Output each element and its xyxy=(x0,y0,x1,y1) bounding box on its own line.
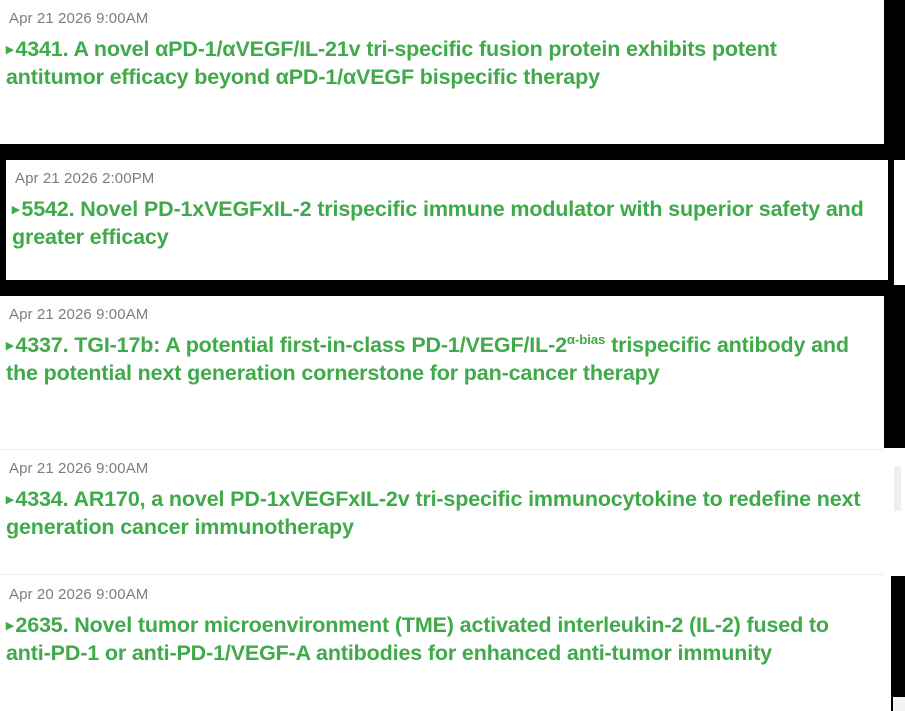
occlusion-band xyxy=(0,285,905,296)
item-date: Apr 21 2026 2:00PM xyxy=(15,170,876,187)
item-title-text: 4341. A novel αPD-1/αVEGF/IL-21v tri-spe… xyxy=(6,37,777,89)
triangle-right-icon: ▸ xyxy=(6,337,13,354)
list-item[interactable]: Apr 21 2026 9:00AM ▸4341. A novel αPD-1/… xyxy=(0,0,884,144)
item-title[interactable]: ▸4341. A novel αPD-1/αVEGF/IL-21v tri-sp… xyxy=(6,36,872,91)
item-title[interactable]: ▸2635. Novel tumor microenvironment (TME… xyxy=(6,612,879,667)
item-title[interactable]: ▸4337. TGI-17b: A potential first-in-cla… xyxy=(6,332,872,387)
list-separator xyxy=(0,574,884,575)
occlusion-bar-right xyxy=(891,576,905,711)
triangle-right-icon: ▸ xyxy=(12,201,19,218)
triangle-right-icon: ▸ xyxy=(6,41,13,58)
triangle-right-icon: ▸ xyxy=(6,617,13,634)
list-item-selected[interactable]: Apr 21 2026 2:00PM ▸5542. Novel PD-1xVEG… xyxy=(0,154,894,286)
list-separator xyxy=(0,449,884,450)
item-date: Apr 21 2026 9:00AM xyxy=(9,460,893,477)
occlusion-bar-right xyxy=(884,296,905,448)
scrollbar-thumb[interactable] xyxy=(894,466,901,511)
occlusion-band xyxy=(0,144,905,160)
item-title-text: 2635. Novel tumor microenvironment (TME)… xyxy=(6,613,829,665)
item-date: Apr 21 2026 9:00AM xyxy=(9,306,872,323)
item-title[interactable]: ▸5542. Novel PD-1xVEGFxIL-2 trispecific … xyxy=(12,196,876,251)
triangle-right-icon: ▸ xyxy=(6,491,13,508)
item-title-text: 4334. AR170, a novel PD-1xVEGFxIL-2v tri… xyxy=(6,487,860,539)
abstract-results-list: Apr 21 2026 9:00AM ▸4341. A novel αPD-1/… xyxy=(0,0,905,711)
item-title-text-part1: 4337. TGI-17b: A potential first-in-clas… xyxy=(15,333,567,357)
list-item[interactable]: Apr 21 2026 9:00AM ▸4337. TGI-17b: A pot… xyxy=(0,296,884,448)
list-item[interactable]: Apr 20 2026 9:00AM ▸2635. Novel tumor mi… xyxy=(0,576,891,711)
item-date: Apr 21 2026 9:00AM xyxy=(9,10,872,27)
item-date: Apr 20 2026 9:00AM xyxy=(9,586,879,603)
scrollbar-corner xyxy=(893,697,905,711)
item-title-superscript: α-bias xyxy=(567,332,605,347)
list-item[interactable]: Apr 21 2026 9:00AM ▸4334. AR170, a novel… xyxy=(0,450,905,574)
item-title-text: 5542. Novel PD-1xVEGFxIL-2 trispecific i… xyxy=(12,197,864,249)
item-title[interactable]: ▸4334. AR170, a novel PD-1xVEGFxIL-2v tr… xyxy=(6,486,893,541)
occlusion-bar-right xyxy=(884,0,905,144)
